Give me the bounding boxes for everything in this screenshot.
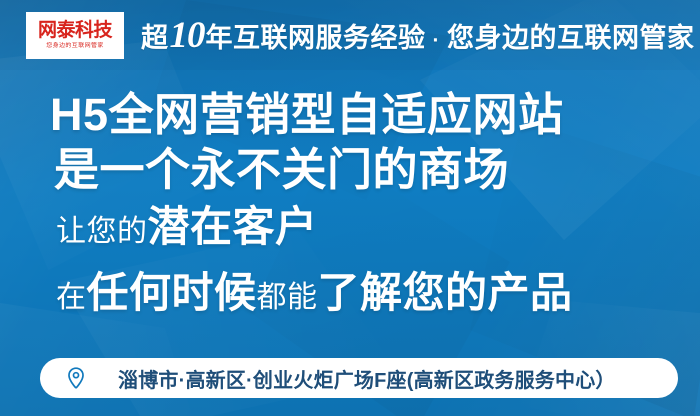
tagline-separator: · — [433, 29, 441, 53]
location-pin-icon — [64, 366, 88, 390]
headline-block: H5全网营销型自适应网站 是一个永不关门的商场 让您的潜在客户 在任何时候都能了… — [50, 88, 670, 330]
company-logo[interactable]: 网泰科技 您身边的互联网管家 — [26, 12, 124, 59]
headline-line-3-bold: 潜在客户 — [148, 203, 318, 250]
tagline-years-number: 10 — [170, 19, 205, 52]
tagline: 超 10 年互联网服务经验 · 您身边的互联网管家 — [141, 16, 695, 55]
headline-line-4-bold-2: 了解您的产品 — [318, 269, 573, 316]
headline-line-2: 是一个永不关门的商场 — [50, 142, 670, 198]
headline-line-1: H5全网营销型自适应网站 — [50, 88, 670, 142]
headline-line-4: 在任何时候都能了解您的产品 — [50, 266, 670, 330]
logo-company-name: 网泰科技 — [38, 20, 112, 41]
headline-line-3: 让您的潜在客户 — [50, 198, 670, 266]
tagline-prefix: 超 — [141, 16, 169, 55]
headline-line-4-thin-2: 都能 — [257, 281, 318, 314]
tagline-middle: 年互联网服务经验 — [206, 16, 426, 55]
address-text: 淄博市·高新区·创业火炬广场F座(高新区政务服务中心） — [118, 364, 616, 393]
headline-line-4-thin-1: 在 — [56, 281, 87, 314]
tagline-suffix: 您身边的互联网管家 — [447, 16, 695, 55]
logo-slogan: 您身边的互联网管家 — [46, 41, 104, 50]
headline-line-3-thin: 让您的 — [56, 215, 148, 248]
promo-banner: 网泰科技 您身边的互联网管家 超 10 年互联网服务经验 · 您身边的互联网管家… — [0, 0, 700, 416]
top-bar: 网泰科技 您身边的互联网管家 超 10 年互联网服务经验 · 您身边的互联网管家 — [0, 0, 700, 70]
headline-line-4-bold-1: 任何时候 — [87, 269, 257, 316]
address-bar[interactable]: 淄博市·高新区·创业火炬广场F座(高新区政务服务中心） — [40, 358, 678, 398]
